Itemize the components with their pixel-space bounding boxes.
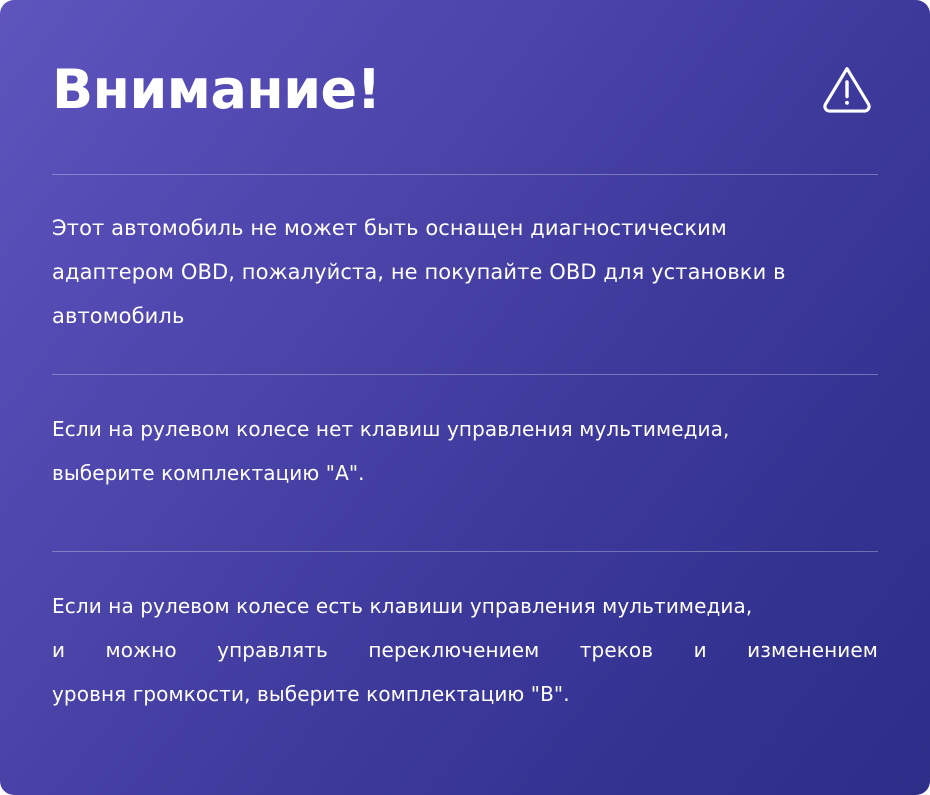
warning-triangle-icon xyxy=(820,61,874,115)
card-header: Внимание! xyxy=(52,0,878,174)
page-title: Внимание! xyxy=(52,57,381,117)
notice-obd-not-supported: Этот автомобиль не может быть оснащен ди… xyxy=(52,175,878,374)
notice-line: и можно управлять переключением треков и… xyxy=(52,628,878,672)
warning-notice-card: Внимание! Этот автомобиль не может быть … xyxy=(0,0,930,795)
notice-line: адаптером OBD, пожалуйста, не покупайте … xyxy=(52,250,878,294)
notice-line: выберите комплектацию "A". xyxy=(52,451,878,495)
notice-line: Если на рулевом колесе есть клавиши упра… xyxy=(52,584,878,628)
notice-line: уровня громкости, выберите комплектацию … xyxy=(52,672,878,716)
notice-line: автомобиль xyxy=(52,294,878,338)
notice-line: Этот автомобиль не может быть оснащен ди… xyxy=(52,206,878,250)
notice-line: Если на рулевом колесе нет клавиш управл… xyxy=(52,407,878,451)
notice-trim-level-a: Если на рулевом колесе нет клавиш управл… xyxy=(52,375,878,551)
notice-trim-level-b: Если на рулевом колесе есть клавиши упра… xyxy=(52,552,878,716)
